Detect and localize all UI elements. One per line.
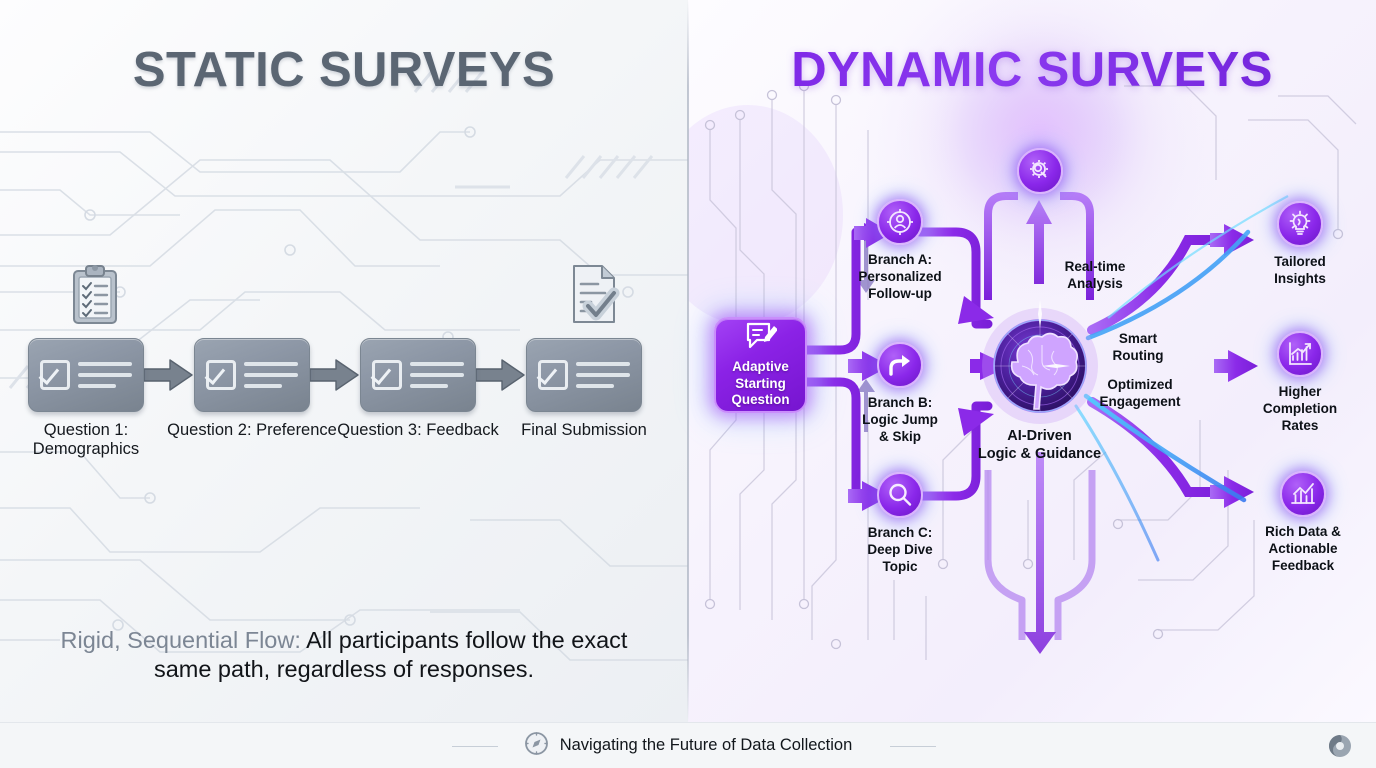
static-flow-row: Question 1: Demographics Question 2: Pre… (28, 335, 660, 415)
footer-rule-left (452, 746, 498, 747)
gear-magnifier-icon (1017, 148, 1063, 194)
branch-a-label: Branch A: Personalized Follow-up (843, 251, 957, 302)
static-arrow-1 (144, 358, 194, 392)
static-step-3-label: Question 3: Feedback (328, 421, 508, 440)
checkbox-form-icon (372, 360, 402, 390)
branch-a-node[interactable]: Branch A: Personalized Follow-up (843, 199, 957, 302)
adaptive-starting-question-node[interactable]: Adaptive Starting Question (714, 317, 807, 413)
static-step-4[interactable]: Final Submission (526, 338, 642, 412)
hub-tag-optimized-engagement: Optimized Engagement (1080, 377, 1200, 410)
static-arrow-2 (310, 358, 360, 392)
static-step-1-label: Question 1: Demographics (0, 421, 176, 459)
form-lines-icon (410, 362, 464, 388)
page-title-static: STATIC SURVEYS (0, 42, 688, 98)
static-step-3[interactable]: Question 3: Feedback (360, 338, 476, 412)
caption-static: Rigid, Sequential Flow: All participants… (34, 626, 654, 684)
static-surveys-panel: STATIC SURVEYS (0, 0, 688, 722)
footer-rule-right (890, 746, 936, 747)
form-lines-icon (244, 362, 298, 388)
footer-text: Navigating the Future of Data Collection (560, 736, 853, 755)
outcome-tailored-insights-label: Tailored Insights (1243, 253, 1357, 287)
outcome-higher-completion-node[interactable]: Higher Completion Rates (1243, 331, 1357, 434)
user-target-icon (877, 199, 923, 245)
static-step-1[interactable]: Question 1: Demographics (28, 338, 144, 412)
outcome-rich-data-label: Rich Data & Actionable Feedback (1243, 523, 1363, 574)
ai-hub-title: AI-Driven Logic & Guidance (962, 428, 1117, 463)
document-approved-icon (566, 262, 622, 331)
form-lines-icon (78, 362, 132, 388)
caption-static-lead: Rigid, Sequential Flow: (61, 627, 301, 653)
checkbox-form-icon (206, 360, 236, 390)
bar-chart-analytics-icon (1280, 471, 1326, 517)
static-arrow-3 (476, 358, 526, 392)
static-step-2[interactable]: Question 2: Preference (194, 338, 310, 412)
adaptive-starting-question-label: Adaptive Starting Question (731, 359, 789, 409)
static-step-4-label: Final Submission (494, 421, 674, 440)
form-lines-icon (576, 362, 630, 388)
branch-b-node[interactable]: Branch B: Logic Jump & Skip (843, 342, 957, 445)
static-step-2-label: Question 2: Preference (162, 421, 342, 440)
checkbox-form-icon (538, 360, 568, 390)
magnifier-icon (877, 472, 923, 518)
survey-edit-bubble-icon (745, 321, 777, 356)
outcome-higher-completion-label: Higher Completion Rates (1243, 383, 1357, 434)
branch-c-node[interactable]: Branch C: Deep Dive Topic (843, 472, 957, 575)
outcome-tailored-insights-node[interactable]: Tailored Insights (1243, 201, 1357, 287)
brand-sphere-logo (1328, 734, 1352, 758)
infographic-canvas: STATIC SURVEYS (0, 0, 1376, 768)
compass-icon (524, 731, 549, 761)
branch-b-label: Branch B: Logic Jump & Skip (843, 394, 957, 445)
checkbox-form-icon (40, 360, 70, 390)
panel-divider (687, 0, 689, 722)
ai-processing-node[interactable] (1015, 148, 1065, 194)
hub-tag-realtime-analysis: Real-time Analysis (1040, 259, 1150, 292)
page-title-dynamic: DYNAMIC SURVEYS (688, 42, 1376, 98)
lightbulb-idea-icon (1277, 201, 1323, 247)
hub-tag-smart-routing: Smart Routing (1083, 331, 1193, 364)
arrow-turn-right-icon (877, 342, 923, 388)
footer-bar: Navigating the Future of Data Collection (0, 722, 1376, 768)
bar-chart-growth-icon (1277, 331, 1323, 377)
branch-c-label: Branch C: Deep Dive Topic (843, 524, 957, 575)
outcome-rich-data-node[interactable]: Rich Data & Actionable Feedback (1243, 471, 1363, 574)
clipboard-checklist-icon (70, 263, 120, 330)
